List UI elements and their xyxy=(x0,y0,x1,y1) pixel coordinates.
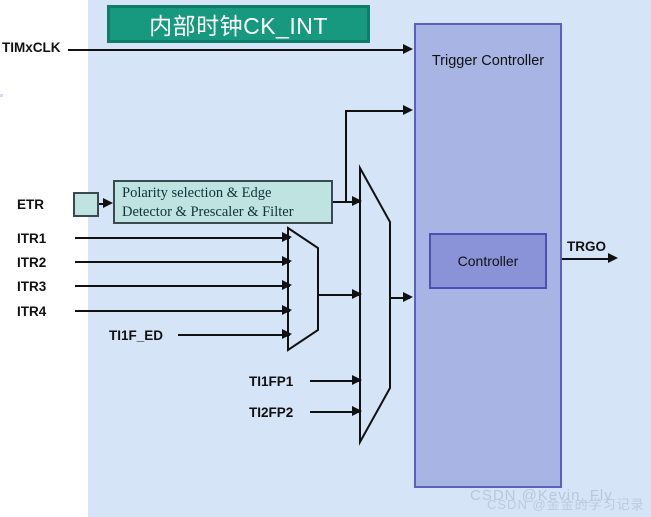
arrow-etr-to-trigger xyxy=(403,105,413,115)
arrow-ti1f-ed xyxy=(282,329,292,339)
watermark-secondary: CSDN @金金的学习记录 xyxy=(487,494,645,513)
multiplexer-shapes xyxy=(0,0,651,517)
arrow-itr4 xyxy=(282,305,292,315)
arrow-trgo xyxy=(608,253,618,263)
trigger-source-multiplexer-shape xyxy=(360,168,390,442)
wire-etr-to-trigger xyxy=(345,110,408,112)
wire-itr2 xyxy=(75,261,290,263)
arrow-itr1 xyxy=(282,232,292,242)
wire-itr3 xyxy=(75,285,290,287)
wire-trgo xyxy=(562,258,614,260)
input-multiplexer-shape xyxy=(288,228,318,350)
arrow-timxclk xyxy=(403,44,413,54)
arrow-mux-large-out xyxy=(403,292,413,302)
wire-itr1 xyxy=(75,237,290,239)
diagram-canvas: 内部时钟CK_INT Trigger Controller Controller… xyxy=(0,0,651,517)
arrow-ti1fp1 xyxy=(352,375,362,385)
wire-polarity-branch-up xyxy=(345,110,347,203)
wire-timxclk xyxy=(68,49,408,51)
arrow-etr-pin xyxy=(103,198,113,208)
arrow-itr3 xyxy=(282,280,292,290)
arrow-ti2fp2 xyxy=(352,406,362,416)
arrow-itr2 xyxy=(282,256,292,266)
arrow-polarity-to-mux xyxy=(352,196,362,206)
arrow-mux-small-out xyxy=(352,289,362,299)
wire-itr4 xyxy=(75,310,290,312)
wire-ti1f-ed xyxy=(178,334,290,336)
